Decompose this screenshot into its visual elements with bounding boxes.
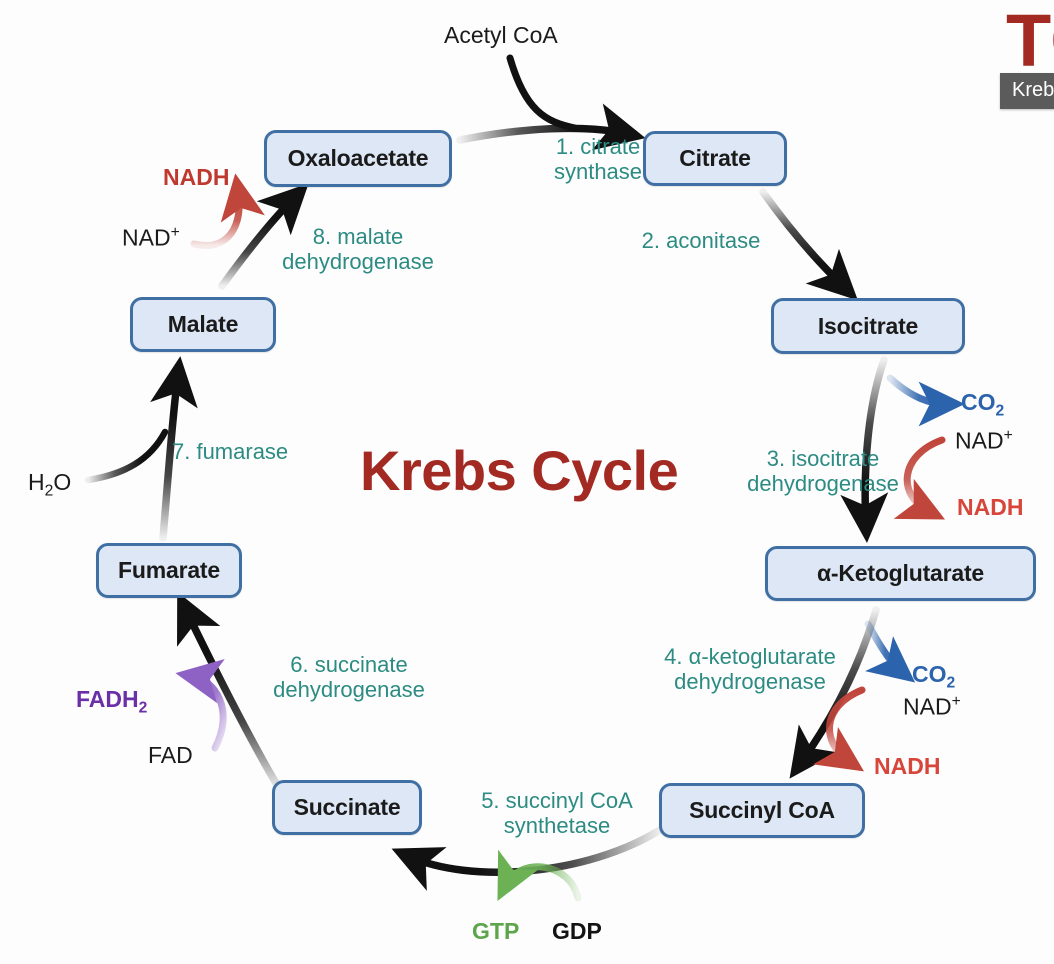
- nadh-label-step8: NADH: [163, 164, 229, 191]
- enzyme-label-4: 4. α-ketoglutarate dehydrogenase: [625, 644, 875, 694]
- node-isocitrate[interactable]: Isocitrate: [771, 298, 965, 354]
- node-succinyl-coa[interactable]: Succinyl CoA: [659, 783, 865, 838]
- nad-plus-label-step8: NAD+: [122, 224, 180, 252]
- krebs-cycle-diagram: Oxaloacetate Citrate Isocitrate α-Ketogl…: [0, 0, 1054, 964]
- nad-plus-sup: +: [171, 224, 180, 241]
- fad-label: FAD: [148, 742, 193, 769]
- nad-text: NAD: [903, 694, 952, 720]
- node-label: Succinyl CoA: [689, 797, 835, 824]
- enzyme-label-6: 6. succinate dehydrogenase: [238, 652, 460, 702]
- co2-sub: 2: [996, 403, 1005, 420]
- page-title: Krebs Cycle: [360, 438, 678, 503]
- corner-heading: TC: [1006, 4, 1054, 78]
- nad-plus-sup: +: [952, 693, 961, 710]
- nadh-arrow-step8: [194, 190, 239, 245]
- enzyme-label-1: 1. citrate synthase: [498, 134, 698, 184]
- nad-text: NAD: [122, 225, 171, 251]
- h2o-label: H2O: [28, 469, 71, 501]
- node-succinate[interactable]: Succinate: [272, 780, 422, 835]
- node-label: Isocitrate: [818, 313, 918, 340]
- node-alpha-ketoglutarate[interactable]: α-Ketoglutarate: [765, 546, 1036, 601]
- acetyl-coa-arrow: [510, 58, 575, 128]
- acetyl-coa-label: Acetyl CoA: [444, 22, 558, 49]
- fadh2-text: FADH: [76, 686, 139, 712]
- co2-text: CO: [961, 389, 996, 415]
- nad-text: NAD: [955, 428, 1004, 454]
- fadh2-arrow: [192, 676, 223, 748]
- node-label: Malate: [168, 311, 238, 338]
- h2o-tail: O: [53, 469, 71, 495]
- node-fumarate[interactable]: Fumarate: [96, 543, 242, 598]
- nadh-arrow-step4: [829, 690, 862, 762]
- node-label: Oxaloacetate: [288, 145, 429, 172]
- fadh2-sub: 2: [139, 700, 148, 717]
- nad-plus-sup: +: [1004, 427, 1013, 444]
- enzyme-label-7: 7. fumarase: [172, 439, 342, 464]
- co2-sub: 2: [947, 675, 956, 692]
- nad-plus-label-step3: NAD+: [955, 427, 1013, 455]
- enzyme-label-2: 2. aconitase: [601, 228, 801, 253]
- gtp-label: GTP: [472, 918, 519, 945]
- node-label: Fumarate: [118, 557, 220, 584]
- co2-text: CO: [912, 661, 947, 687]
- enzyme-label-3: 3. isocitrate dehydrogenase: [718, 446, 928, 496]
- corner-tooltip: Krebs: [1000, 73, 1054, 109]
- node-oxaloacetate[interactable]: Oxaloacetate: [264, 130, 452, 187]
- enzyme-label-5: 5. succinyl CoA synthetase: [446, 788, 668, 838]
- h2o-arrow: [88, 432, 165, 480]
- co2-label-step4: CO2: [912, 661, 955, 693]
- co2-label-step3: CO2: [961, 389, 1004, 421]
- nad-plus-label-step4: NAD+: [903, 693, 961, 721]
- fadh2-label: FADH2: [76, 686, 147, 718]
- nadh-label-step3: NADH: [957, 494, 1023, 521]
- co2-arrow-step3: [890, 378, 948, 404]
- arrow-isocitrate-to-akg: [865, 360, 884, 525]
- nadh-label-step4: NADH: [874, 753, 940, 780]
- enzyme-label-8: 8. malate dehydrogenase: [258, 224, 458, 274]
- node-label: α-Ketoglutarate: [817, 560, 984, 587]
- h2o-text: H: [28, 469, 45, 495]
- node-malate[interactable]: Malate: [130, 297, 276, 352]
- node-label: Succinate: [294, 794, 401, 821]
- gdp-label: GDP: [552, 918, 602, 945]
